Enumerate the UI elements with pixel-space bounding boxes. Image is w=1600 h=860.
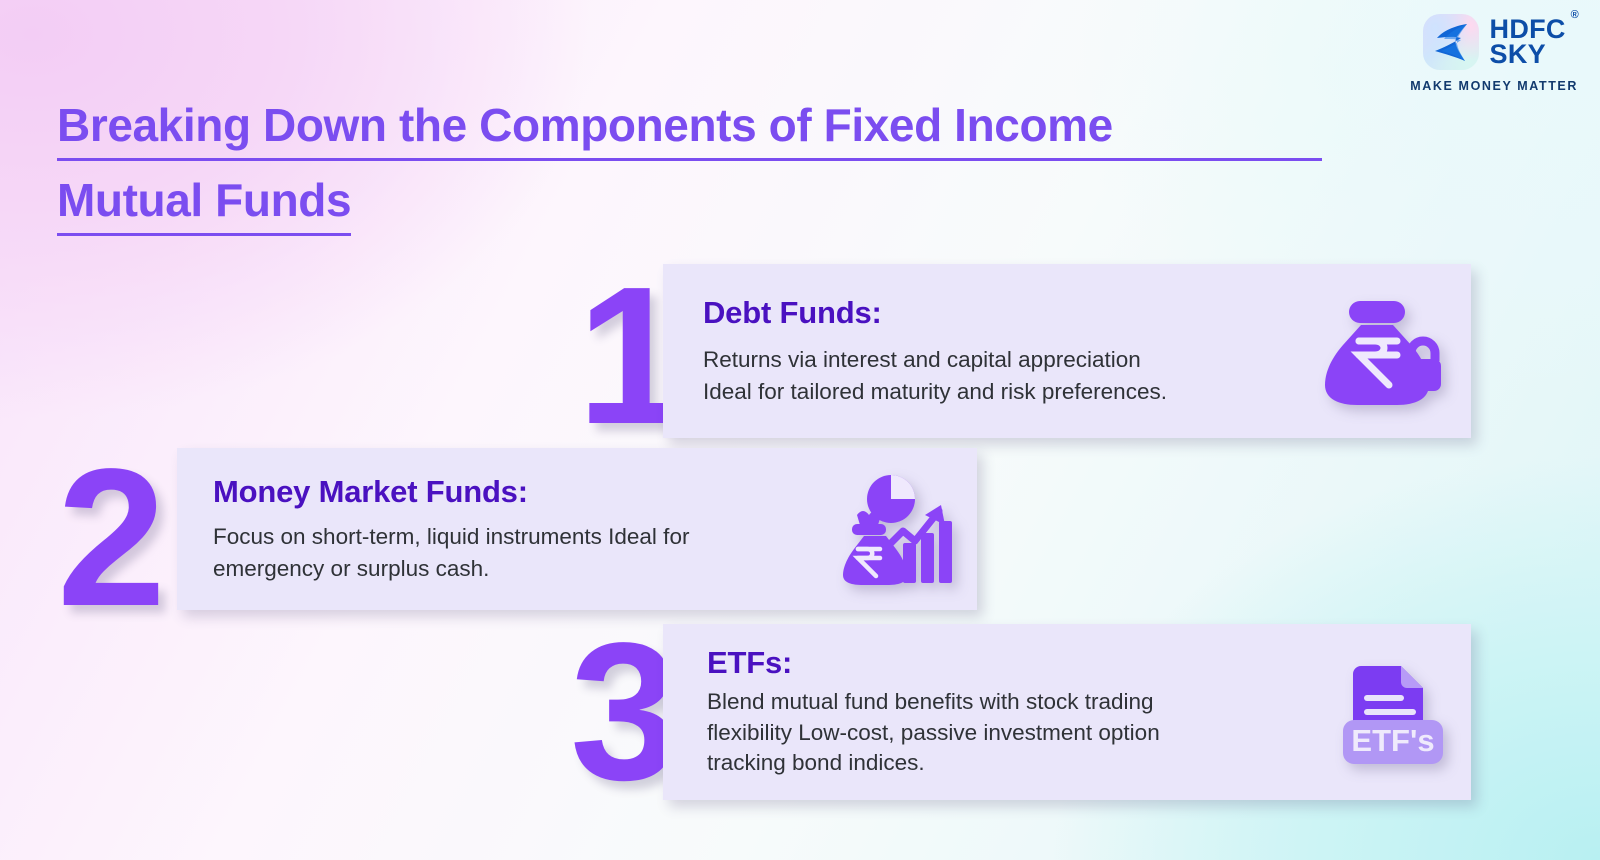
etf-badge-label: ETF's xyxy=(1351,723,1434,758)
step-number-3: 3 xyxy=(570,614,675,810)
money-bag-pie-chart-growth-icon xyxy=(841,473,959,585)
trademark-symbol: ® xyxy=(1571,10,1579,20)
brand-logo: HDFC SKY ® MAKE MONEY MATTER xyxy=(1410,14,1578,93)
card-body: ETFs: Blend mutual fund benefits with st… xyxy=(707,645,1339,779)
logo-word-sky: SKY xyxy=(1490,42,1566,67)
logo-row: HDFC SKY ® xyxy=(1423,14,1566,70)
card-body: Money Market Funds: Focus on short-term,… xyxy=(213,474,841,583)
hdfc-sky-swoosh-icon xyxy=(1423,14,1479,70)
page-title: Breaking Down the Components of Fixed In… xyxy=(57,94,1347,236)
card-description: Blend mutual fund benefits with stock tr… xyxy=(707,687,1339,779)
etf-document-icon: ETF's xyxy=(1339,656,1447,768)
money-bag-rupee-lock-icon xyxy=(1319,295,1447,407)
card-etfs: ETFs: Blend mutual fund benefits with st… xyxy=(663,624,1471,800)
card-money-market-funds: Money Market Funds: Focus on short-term,… xyxy=(177,448,977,610)
card-heading: ETFs: xyxy=(707,645,1339,681)
step-number-2: 2 xyxy=(57,440,162,636)
card-description: Focus on short-term, liquid instruments … xyxy=(213,521,841,583)
card-description: Returns via interest and capital appreci… xyxy=(703,344,1319,406)
logo-wordmark: HDFC SKY ® xyxy=(1490,17,1566,67)
card-debt-funds: Debt Funds: Returns via interest and cap… xyxy=(663,264,1471,438)
card-body: Debt Funds: Returns via interest and cap… xyxy=(703,295,1319,406)
brand-tagline: MAKE MONEY MATTER xyxy=(1410,79,1578,93)
page-title-line-2: Mutual Funds xyxy=(57,169,351,236)
page-title-line-1: Breaking Down the Components of Fixed In… xyxy=(57,94,1322,161)
card-heading: Money Market Funds: xyxy=(213,474,841,510)
card-heading: Debt Funds: xyxy=(703,295,1319,331)
infographic-canvas: HDFC SKY ® MAKE MONEY MATTER Breaking Do… xyxy=(0,0,1600,860)
